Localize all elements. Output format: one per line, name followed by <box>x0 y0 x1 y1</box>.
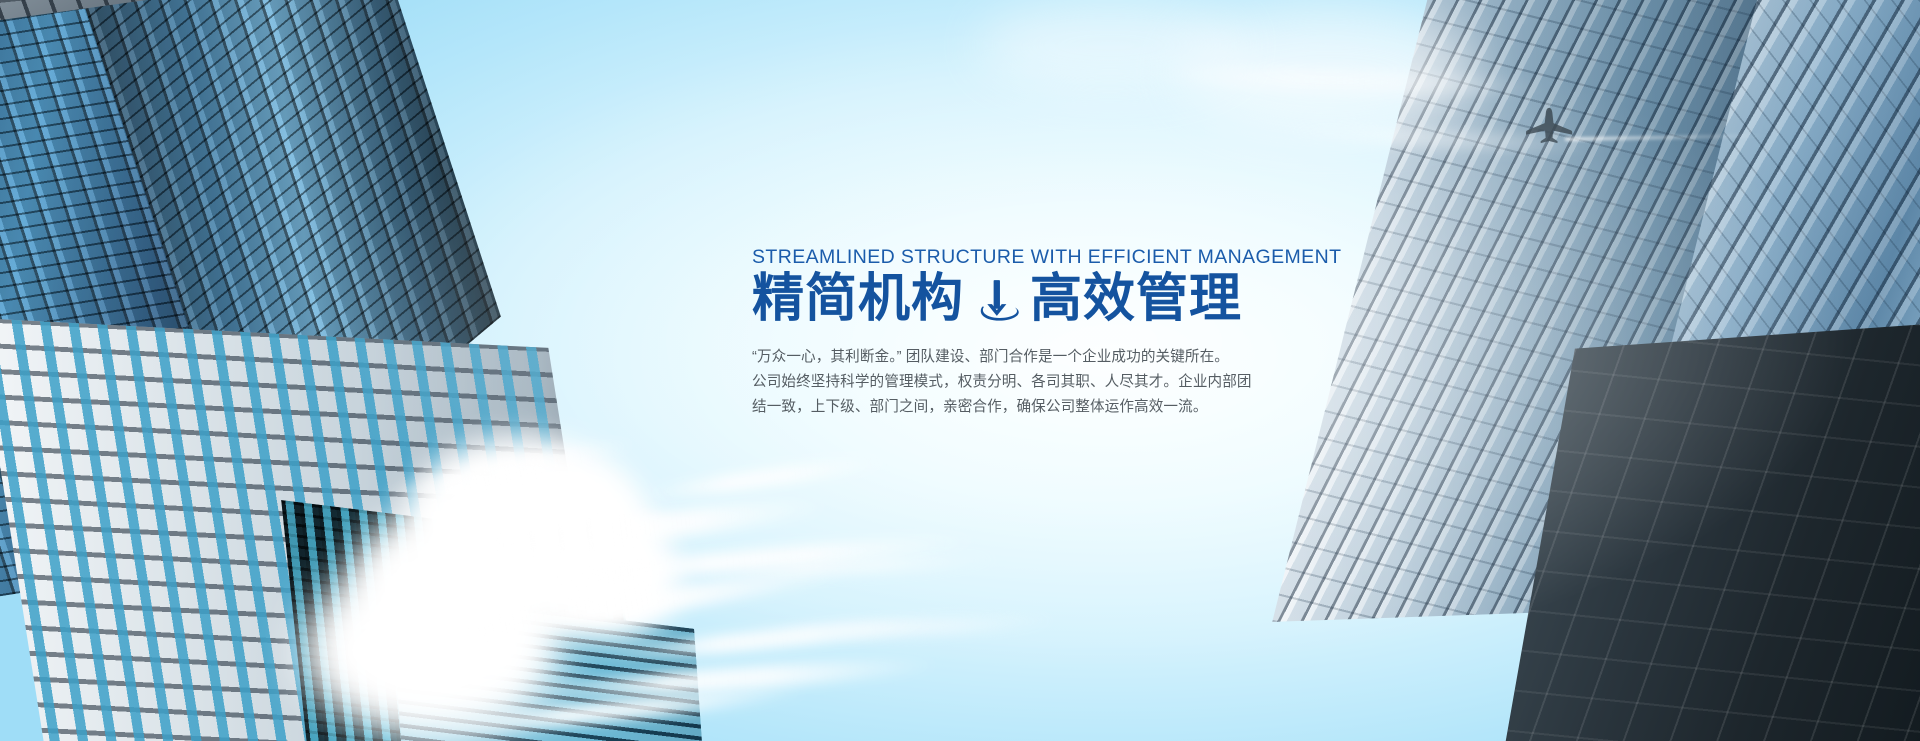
hero-copy-block: STREAMLINED STRUCTURE WITH EFFICIENT MAN… <box>752 247 1292 420</box>
building-teal-slab-left <box>393 600 708 741</box>
cloud-shape <box>980 0 1240 90</box>
cloud-wisp <box>760 612 1060 644</box>
headline-right-text: 高效管理 <box>1030 269 1242 330</box>
tower-body <box>391 592 710 741</box>
down-arrow-swoosh-logo-mark-icon <box>970 275 1024 329</box>
airplane-icon <box>1520 105 1582 147</box>
body-line: 公司始终坚持科学的管理模式，权责分明、各司其职、人尽其才。企业内部团 <box>752 370 1292 395</box>
cloud-wisp <box>640 453 890 504</box>
cloud-wisp <box>700 552 1000 582</box>
body-line: 结一致，上下级、部门之间，亲密合作，确保公司整体运作高效一流。 <box>752 395 1292 420</box>
cloud-wisp <box>560 530 980 587</box>
hero-headline: 精简机构 高效管理 <box>752 269 1292 330</box>
hero-body-copy: “万众一心，其利断金。” 团队建设、部门合作是一个企业成功的关键所在。 公司始终… <box>752 345 1292 420</box>
headline-left-text: 精简机构 <box>752 269 964 330</box>
body-line: “万众一心，其利断金。” 团队建设、部门合作是一个企业成功的关键所在。 <box>752 345 1292 370</box>
hero-eyebrow: STREAMLINED STRUCTURE WITH EFFICIENT MAN… <box>752 247 1292 268</box>
hero-banner: STREAMLINED STRUCTURE WITH EFFICIENT MAN… <box>0 0 1920 741</box>
